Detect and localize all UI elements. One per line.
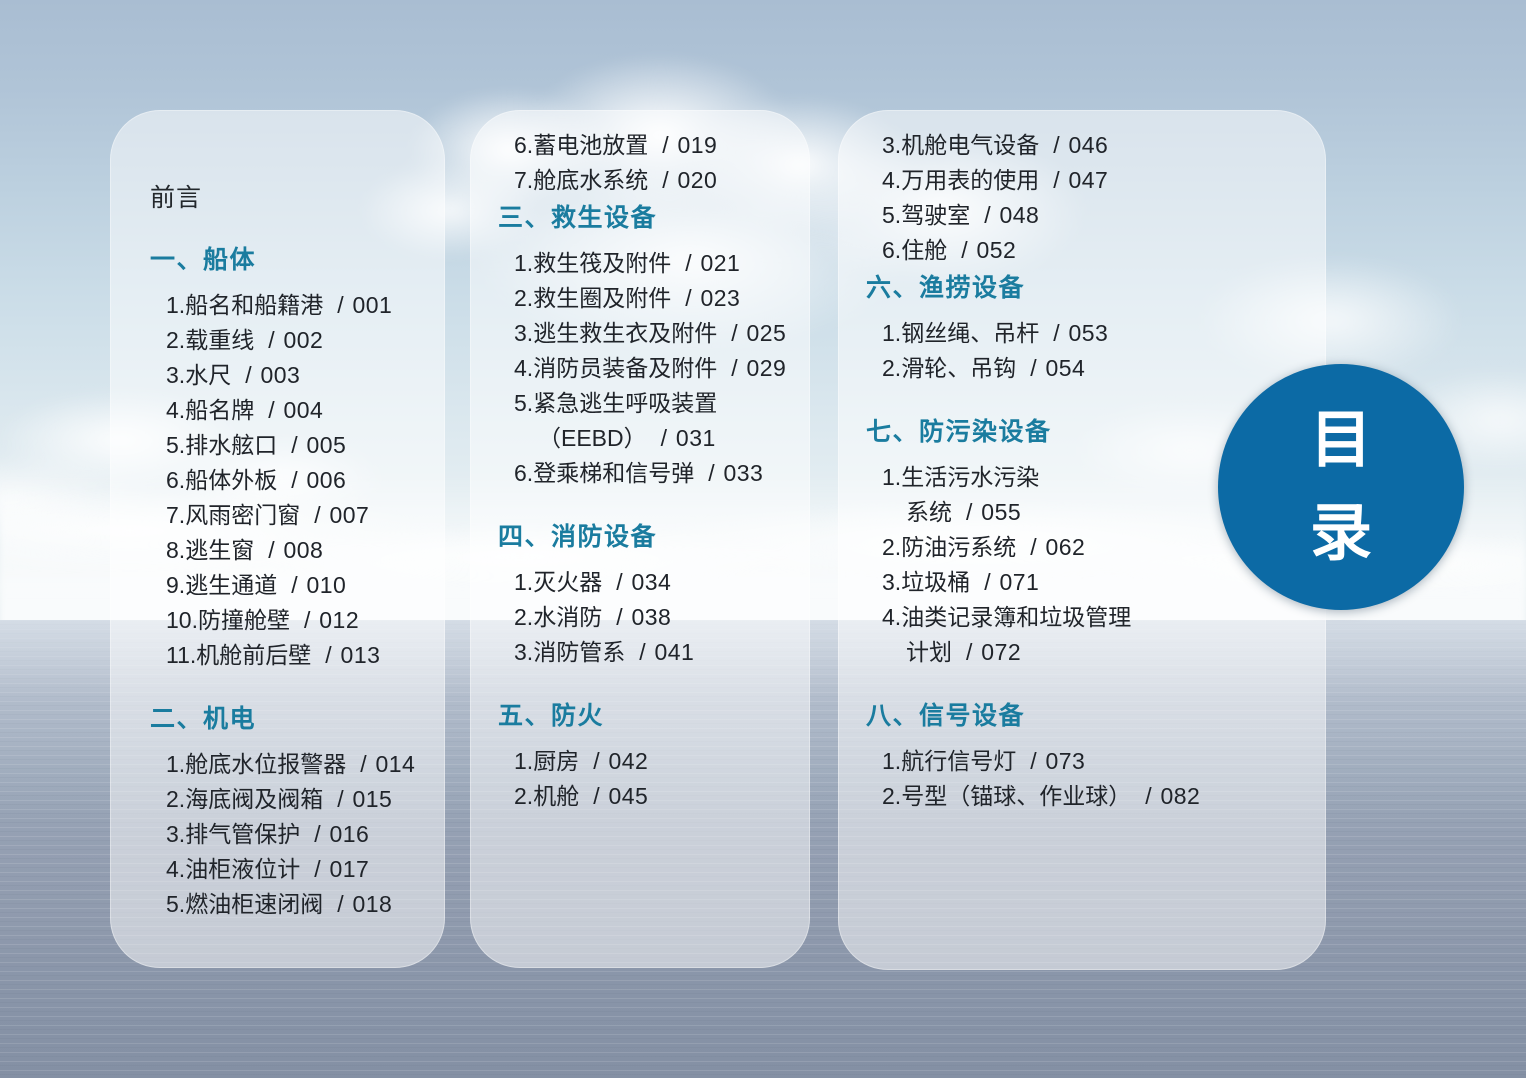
toc-entry-title: 住舱 <box>901 237 947 263</box>
toc-entry-page: 062 <box>1039 534 1086 560</box>
toc-entry-number: 1. <box>514 569 533 595</box>
toc-entry[interactable]: 1.船名和船籍港/ 001 <box>150 288 429 323</box>
toc-entry-title: 逃生救生衣及附件 <box>533 320 717 346</box>
toc-entry[interactable]: 5.排水舷口/ 005 <box>150 428 429 463</box>
toc-entry-title: 蓄电池放置 <box>533 132 648 158</box>
toc-entry[interactable]: 计划/ 072 <box>866 635 1310 670</box>
toc-entry-separator: / <box>717 355 739 381</box>
toc-entry-number: 7. <box>166 502 185 528</box>
toc-entry[interactable]: 4.万用表的使用/ 047 <box>866 163 1310 198</box>
toc-entry-separator: / <box>579 748 601 774</box>
section-heading: 三、救生设备 <box>498 198 794 234</box>
toc-entry-title: 舱底水系统 <box>533 167 648 193</box>
toc-entry-title: 钢丝绳、吊杆 <box>901 320 1039 346</box>
toc-entry-number: 1. <box>166 751 185 777</box>
toc-entry-page: 053 <box>1062 320 1109 346</box>
toc-entry-number: 6. <box>882 237 901 263</box>
toc-entry-number: 9. <box>166 572 185 598</box>
toc-entry-number: 4. <box>166 856 185 882</box>
toc-entry-number: 10. <box>166 607 198 633</box>
toc-entry-title: 海底阀及阀箱 <box>185 786 323 812</box>
toc-entry-separator: / <box>1016 534 1038 560</box>
toc-entry-page: 041 <box>648 639 695 665</box>
toc-entry-title: 消防员装备及附件 <box>533 355 717 381</box>
toc-entry-page: 029 <box>740 355 787 381</box>
toc-entry-separator: / <box>952 499 974 525</box>
toc-entry-title: 灭火器 <box>533 569 602 595</box>
toc-entry-page: 073 <box>1039 748 1086 774</box>
toc-entry[interactable]: 11.机舱前后壁/ 013 <box>150 638 429 673</box>
toc-list-2: 6.蓄电池放置/ 0197.舱底水系统/ 020三、救生设备1.救生筏及附件/ … <box>498 128 794 814</box>
toc-entry-number: 1. <box>882 464 901 490</box>
toc-entry-number: 2. <box>514 783 533 809</box>
toc-entry-page: 015 <box>346 786 393 812</box>
toc-entry-page: 045 <box>602 783 649 809</box>
toc-entry-page: 055 <box>974 499 1021 525</box>
toc-entry-separator: / <box>346 751 368 777</box>
toc-entry-title: 机舱前后壁 <box>196 642 311 668</box>
toc-entry-title: （EEBD） <box>538 425 647 451</box>
toc-entry-separator: / <box>1039 320 1061 346</box>
toc-entry[interactable]: 2.水消防/ 038 <box>498 600 794 635</box>
toc-entry[interactable]: 2.海底阀及阀箱/ 015 <box>150 782 429 817</box>
toc-entry-page: 042 <box>602 748 649 774</box>
toc-entry-title: 水尺 <box>185 362 231 388</box>
toc-entry-number: 3. <box>514 639 533 665</box>
toc-entry-separator: / <box>290 607 312 633</box>
toc-entry-title: 舱底水位报警器 <box>185 751 346 777</box>
toc-entry-number: 2. <box>882 355 901 381</box>
toc-entry-page: 006 <box>300 467 347 493</box>
toc-entry-page: 038 <box>625 604 672 630</box>
toc-entry-title: 逃生通道 <box>185 572 277 598</box>
toc-entry-title: 生活污水污染 <box>901 464 1039 490</box>
toc-entry-separator: / <box>300 502 322 528</box>
toc-entry-separator: / <box>231 362 253 388</box>
toc-entry[interactable]: 2.救生圈及附件/ 023 <box>498 281 794 316</box>
toc-entry-number: 7. <box>514 167 533 193</box>
toc-entry-number: 11. <box>166 642 196 668</box>
toc-entry-separator: / <box>671 250 693 276</box>
toc-entry-page: 046 <box>1062 132 1109 158</box>
toc-entry[interactable]: 2.机舱/ 045 <box>498 779 794 814</box>
toc-entry[interactable]: 5.驾驶室/ 048 <box>866 198 1310 233</box>
toc-entry[interactable]: 7.舱底水系统/ 020 <box>498 163 794 198</box>
toc-entry-title: 燃油柜速闭阀 <box>185 891 323 917</box>
toc-entry-separator: / <box>671 285 693 311</box>
toc-entry-page: 001 <box>346 292 393 318</box>
toc-entry-separator: / <box>277 572 299 598</box>
toc-entry[interactable]: 4.消防员装备及附件/ 029 <box>498 351 794 386</box>
toc-entry-number: 3. <box>166 362 185 388</box>
toc-entry[interactable]: 5.紧急逃生呼吸装置 <box>498 386 794 421</box>
toc-entry-title: 厨房 <box>533 748 579 774</box>
toc-entry-separator: / <box>648 132 670 158</box>
toc-entry-number: 1. <box>882 748 901 774</box>
toc-entry-title: 水消防 <box>533 604 602 630</box>
toc-entry-number: 1. <box>514 250 533 276</box>
toc-entry-number: 2. <box>514 604 533 630</box>
toc-entry[interactable]: 2.号型（锚球、作业球）/ 082 <box>866 779 1310 814</box>
toc-entry[interactable]: 6.船体外板/ 006 <box>150 463 429 498</box>
toc-entry-page: 052 <box>970 237 1017 263</box>
toc-list-1: 一、船体1.船名和船籍港/ 0012.载重线/ 0023.水尺/ 0034.船名… <box>150 240 429 922</box>
toc-entry[interactable]: 4.船名牌/ 004 <box>150 393 429 428</box>
toc-entry[interactable]: 8.逃生窗/ 008 <box>150 533 429 568</box>
toc-entry-separator: / <box>323 786 345 812</box>
section-heading: 二、机电 <box>150 699 429 735</box>
toc-entry-title: 救生圈及附件 <box>533 285 671 311</box>
toc-entry-separator: / <box>952 639 974 665</box>
toc-entry-separator: / <box>1131 783 1153 809</box>
toc-entry-separator: / <box>300 856 322 882</box>
toc-entry-number: 5. <box>514 390 533 416</box>
toc-entry-page: 031 <box>669 425 716 451</box>
toc-entry-page: 021 <box>694 250 741 276</box>
toc-entry-number: 3. <box>882 569 901 595</box>
toc-entry-page: 018 <box>346 891 393 917</box>
toc-entry-page: 004 <box>277 397 324 423</box>
toc-entry-page: 072 <box>974 639 1021 665</box>
toc-entry-number: 2. <box>882 783 901 809</box>
toc-column-1: 前言 一、船体1.船名和船籍港/ 0012.载重线/ 0023.水尺/ 0034… <box>110 110 445 968</box>
toc-entry[interactable]: 4.油类记录簿和垃圾管理 <box>866 600 1310 635</box>
toc-entry-separator: / <box>602 604 624 630</box>
toc-entry-title: 排气管保护 <box>185 821 300 847</box>
toc-entry[interactable]: 2.滑轮、吊钩/ 054 <box>866 351 1310 386</box>
section-heading: 五、防火 <box>498 696 794 732</box>
toc-entry[interactable]: 3.消防管系/ 041 <box>498 635 794 670</box>
toc-entry-number: 2. <box>514 285 533 311</box>
toc-entry-separator: / <box>1016 355 1038 381</box>
toc-entry-number: 5. <box>166 891 185 917</box>
toc-entry-separator: / <box>970 202 992 228</box>
toc-entry[interactable]: 7.风雨密门窗/ 007 <box>150 498 429 533</box>
toc-entry-title: 油类记录簿和垃圾管理 <box>901 604 1131 630</box>
toc-entry-separator: / <box>323 292 345 318</box>
toc-entry-separator: / <box>947 237 969 263</box>
toc-entry[interactable]: 6.蓄电池放置/ 019 <box>498 128 794 163</box>
toc-entry-separator: / <box>647 425 669 451</box>
toc-entry-separator: / <box>254 397 276 423</box>
toc-entry[interactable]: （EEBD）/ 031 <box>498 421 794 456</box>
toc-entry[interactable]: 1.救生筏及附件/ 021 <box>498 246 794 281</box>
toc-entry-page: 017 <box>323 856 370 882</box>
toc-entry[interactable]: 4.油柜液位计/ 017 <box>150 852 429 887</box>
toc-page: 前言 一、船体1.船名和船籍港/ 0012.载重线/ 0023.水尺/ 0034… <box>0 0 1526 1078</box>
toc-entry[interactable]: 10.防撞舱壁/ 012 <box>150 603 429 638</box>
toc-entry-page: 019 <box>671 132 718 158</box>
toc-entry-page: 025 <box>740 320 787 346</box>
section-heading: 四、消防设备 <box>498 517 794 553</box>
toc-entry-separator: / <box>1039 167 1061 193</box>
toc-entry-title: 机舱 <box>533 783 579 809</box>
toc-entry-page: 033 <box>717 460 764 486</box>
toc-entry-page: 002 <box>277 327 324 353</box>
toc-entry-title: 消防管系 <box>533 639 625 665</box>
toc-entry-title: 船体外板 <box>185 467 277 493</box>
toc-entry-page: 007 <box>323 502 370 528</box>
badge-char-mu: 目 <box>1310 408 1372 473</box>
toc-entry-separator: / <box>694 460 716 486</box>
toc-entry-title: 紧急逃生呼吸装置 <box>533 390 717 416</box>
toc-entry-separator: / <box>277 467 299 493</box>
toc-entry[interactable]: 1.航行信号灯/ 073 <box>866 744 1310 779</box>
section-heading: 六、渔捞设备 <box>866 268 1310 304</box>
toc-entry[interactable]: 6.住舱/ 052 <box>866 233 1310 268</box>
toc-entry-title: 载重线 <box>185 327 254 353</box>
toc-entry-number: 4. <box>166 397 185 423</box>
toc-entry-page: 005 <box>300 432 347 458</box>
toc-entry-number: 1. <box>514 748 533 774</box>
toc-entry-separator: / <box>311 642 333 668</box>
toc-entry-number: 6. <box>514 132 533 158</box>
toc-entry-separator: / <box>625 639 647 665</box>
toc-entry-separator: / <box>254 537 276 563</box>
toc-entry[interactable]: 9.逃生通道/ 010 <box>150 568 429 603</box>
toc-entry-separator: / <box>323 891 345 917</box>
toc-entry-title: 防撞舱壁 <box>198 607 290 633</box>
toc-entry-title: 垃圾桶 <box>901 569 970 595</box>
toc-entry[interactable]: 3.排气管保护/ 016 <box>150 817 429 852</box>
toc-entry[interactable]: 3.垃圾桶/ 071 <box>866 565 1310 600</box>
toc-entry-page: 013 <box>334 642 381 668</box>
toc-entry-number: 5. <box>882 202 901 228</box>
toc-entry-number: 2. <box>166 327 185 353</box>
toc-entry-title: 排水舷口 <box>185 432 277 458</box>
toc-entry-separator: / <box>1016 748 1038 774</box>
toc-entry-page: 016 <box>323 821 370 847</box>
toc-entry-separator: / <box>254 327 276 353</box>
toc-entry-title: 机舱电气设备 <box>901 132 1039 158</box>
toc-entry-page: 012 <box>312 607 359 633</box>
toc-entry-separator: / <box>717 320 739 346</box>
toc-entry-title: 风雨密门窗 <box>185 502 300 528</box>
toc-entry-page: 034 <box>625 569 672 595</box>
toc-entry-page: 014 <box>369 751 416 777</box>
toc-entry-title: 登乘梯和信号弹 <box>533 460 694 486</box>
table-of-contents-badge: 目 录 <box>1218 364 1464 610</box>
toc-entry-number: 4. <box>882 604 901 630</box>
toc-column-2: 6.蓄电池放置/ 0197.舱底水系统/ 020三、救生设备1.救生筏及附件/ … <box>470 110 810 968</box>
toc-entry[interactable]: 1.舱底水位报警器/ 014 <box>150 747 429 782</box>
toc-entry-number: 4. <box>882 167 901 193</box>
toc-entry-title: 航行信号灯 <box>901 748 1016 774</box>
toc-entry-separator: / <box>1039 132 1061 158</box>
toc-entry-title: 驾驶室 <box>901 202 970 228</box>
preface-label: 前言 <box>150 178 202 214</box>
toc-entry-title: 救生筏及附件 <box>533 250 671 276</box>
section-heading: 八、信号设备 <box>866 696 1310 732</box>
toc-entry-page: 020 <box>671 167 718 193</box>
toc-entry-page: 047 <box>1062 167 1109 193</box>
section-heading: 一、船体 <box>150 240 429 276</box>
toc-entry-title: 船名和船籍港 <box>185 292 323 318</box>
toc-entry-separator: / <box>648 167 670 193</box>
toc-entry[interactable]: 5.燃油柜速闭阀/ 018 <box>150 887 429 922</box>
toc-entry-page: 008 <box>277 537 324 563</box>
toc-entry-title: 计划 <box>906 639 952 665</box>
toc-entry[interactable]: 1.灭火器/ 034 <box>498 565 794 600</box>
toc-entry-separator: / <box>970 569 992 595</box>
toc-entry-number: 3. <box>166 821 185 847</box>
toc-entry-separator: / <box>579 783 601 809</box>
toc-entry-page: 071 <box>993 569 1040 595</box>
toc-entry-page: 003 <box>254 362 301 388</box>
toc-entry-number: 3. <box>882 132 901 158</box>
toc-entry-number: 2. <box>166 786 185 812</box>
toc-entry-number: 8. <box>166 537 185 563</box>
toc-entry-title: 系统 <box>906 499 952 525</box>
toc-entry[interactable]: 3.机舱电气设备/ 046 <box>866 128 1310 163</box>
toc-entry-title: 油柜液位计 <box>185 856 300 882</box>
toc-entry[interactable]: 6.登乘梯和信号弹/ 033 <box>498 456 794 491</box>
toc-entry[interactable]: 3.水尺/ 003 <box>150 358 429 393</box>
toc-entry-title: 万用表的使用 <box>901 167 1039 193</box>
toc-entry-title: 船名牌 <box>185 397 254 423</box>
toc-entry-number: 6. <box>166 467 185 493</box>
toc-entry-separator: / <box>602 569 624 595</box>
toc-entry-title: 防油污系统 <box>901 534 1016 560</box>
toc-entry-separator: / <box>277 432 299 458</box>
toc-entry[interactable]: 2.载重线/ 002 <box>150 323 429 358</box>
toc-entry-number: 4. <box>514 355 533 381</box>
toc-entry-page: 054 <box>1039 355 1086 381</box>
toc-entry[interactable]: 1.厨房/ 042 <box>498 744 794 779</box>
toc-entry-page: 082 <box>1154 783 1201 809</box>
toc-entry-number: 1. <box>882 320 901 346</box>
toc-entry-number: 5. <box>166 432 185 458</box>
toc-entry-page: 048 <box>993 202 1040 228</box>
toc-entry-page: 023 <box>694 285 741 311</box>
toc-entry-number: 6. <box>514 460 533 486</box>
toc-entry[interactable]: 1.钢丝绳、吊杆/ 053 <box>866 316 1310 351</box>
toc-entry-separator: / <box>300 821 322 847</box>
toc-entry-title: 号型（锚球、作业球） <box>901 783 1131 809</box>
badge-char-lu: 录 <box>1310 501 1372 566</box>
toc-entry-number: 2. <box>882 534 901 560</box>
toc-entry-number: 3. <box>514 320 533 346</box>
toc-entry[interactable]: 3.逃生救生衣及附件/ 025 <box>498 316 794 351</box>
toc-entry-title: 滑轮、吊钩 <box>901 355 1016 381</box>
toc-entry-page: 010 <box>300 572 347 598</box>
toc-entry-title: 逃生窗 <box>185 537 254 563</box>
toc-entry-number: 1. <box>166 292 185 318</box>
